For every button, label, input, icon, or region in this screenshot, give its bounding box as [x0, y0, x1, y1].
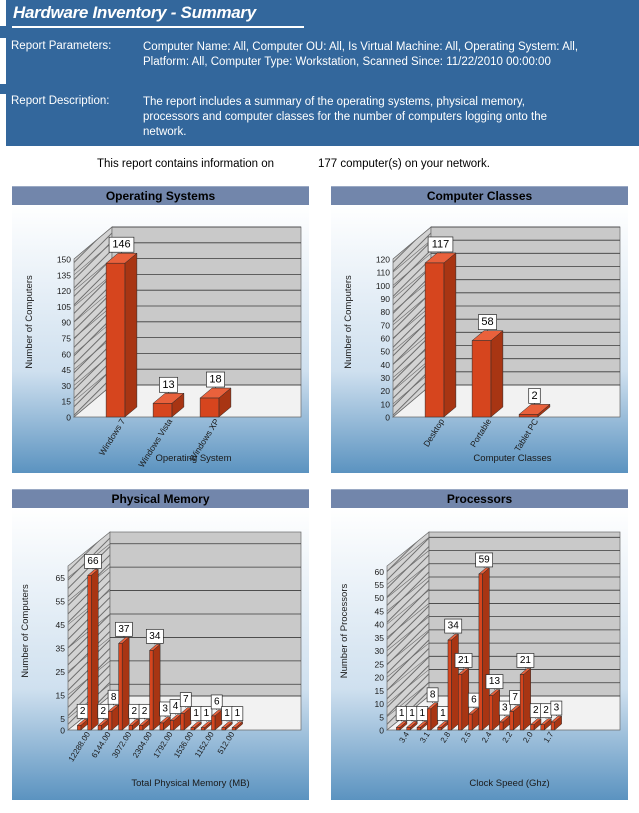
bar-value-label: 21 — [520, 655, 532, 666]
header-accent-bar — [0, 0, 6, 146]
bar-value-label: 117 — [432, 238, 450, 250]
plot-area-physical-memory: 05152535455565266283722343471161112288.0… — [56, 532, 301, 763]
y-tick-label: 40 — [375, 620, 385, 630]
y-tick-label: 15 — [375, 686, 385, 696]
y-tick-label: 20 — [381, 386, 391, 396]
bar-value-label: 4 — [173, 701, 179, 712]
bar-value-label: 58 — [481, 316, 493, 328]
summary-text-left: This report contains information on — [97, 158, 274, 170]
bar-value-label: 1 — [440, 708, 446, 719]
chart-canvas-computer-classes: 0102030405060708090100110120117582Deskto… — [331, 205, 628, 473]
y-tick-label: 35 — [56, 644, 66, 654]
title-underline — [12, 26, 304, 28]
y-tick-label: 60 — [62, 349, 72, 359]
bar-value-label: 8 — [430, 689, 436, 700]
y-tick-label: 45 — [62, 365, 72, 375]
y-axis-title: Number of Computers — [24, 275, 35, 369]
bar-value-label: 146 — [112, 239, 130, 251]
y-tick-label: 0 — [60, 726, 65, 736]
bar-value-label: 13 — [162, 379, 174, 391]
header-accent-notch-bottom — [0, 84, 6, 94]
y-tick-label: 110 — [376, 268, 390, 278]
bar-value-label: 1 — [399, 708, 405, 719]
bar-value-label: 66 — [87, 556, 99, 567]
y-tick-label: 30 — [375, 646, 385, 656]
chart-title-computer-classes: Computer Classes — [331, 186, 628, 205]
summary-text-right: 177 computer(s) on your network. — [318, 158, 490, 170]
y-tick-label: 25 — [56, 667, 66, 677]
chart-title-processors: Processors — [331, 489, 628, 508]
y-tick-label: 20 — [375, 673, 385, 683]
chart-panel-physical-memory: Physical Memory 051525354555652662837223… — [12, 489, 309, 800]
page-title: Hardware Inventory - Summary — [13, 3, 256, 23]
y-tick-label: 5 — [379, 712, 384, 722]
bar: 8 — [108, 690, 119, 730]
chart-panel-operating-systems: Operating Systems 0153045607590105120135… — [12, 186, 309, 473]
y-tick-label: 105 — [57, 302, 71, 312]
x-axis-title: Operating System — [155, 453, 231, 464]
bar-value-label: 7 — [512, 692, 518, 703]
bar-value-label: 13 — [489, 676, 501, 687]
y-tick-label: 50 — [375, 593, 385, 603]
y-tick-label: 30 — [62, 381, 72, 391]
y-axis-title: Number of Computers — [20, 584, 31, 678]
y-tick-label: 0 — [385, 413, 390, 423]
y-tick-label: 0 — [66, 413, 71, 423]
bar-value-label: 1 — [409, 708, 415, 719]
bar-value-label: 2 — [131, 706, 137, 717]
report-parameters-value: Computer Name: All, Computer OU: All, Is… — [143, 40, 579, 70]
y-tick-label: 55 — [56, 597, 66, 607]
bar-value-label: 1 — [193, 708, 199, 719]
chart-svg-computer-classes: 0102030405060708090100110120117582Deskto… — [331, 205, 628, 473]
y-tick-label: 55 — [375, 580, 385, 590]
y-tick-label: 10 — [375, 699, 385, 709]
chart-side-wall — [387, 532, 429, 730]
x-axis-title: Computer Classes — [473, 453, 551, 464]
bar-value-label: 2 — [543, 705, 549, 716]
plot-area-processors: 0510152025303540455055601118134216591337… — [375, 532, 620, 744]
report-header: Hardware Inventory - Summary Report Para… — [0, 0, 639, 146]
y-tick-label: 80 — [381, 307, 391, 317]
chart-title-operating-systems: Operating Systems — [12, 186, 309, 205]
y-tick-label: 40 — [381, 360, 391, 370]
bar-value-label: 34 — [149, 631, 161, 642]
report-description-label: Report Description: — [11, 95, 109, 107]
bar-value-label: 59 — [479, 554, 491, 565]
y-tick-label: 5 — [60, 714, 65, 724]
header-accent-notch-top — [0, 26, 6, 38]
y-tick-label: 0 — [379, 726, 384, 736]
y-tick-label: 90 — [62, 318, 72, 328]
y-tick-label: 90 — [381, 294, 391, 304]
bar-value-label: 2 — [80, 706, 86, 717]
y-tick-label: 45 — [375, 606, 385, 616]
bar-value-label: 18 — [209, 374, 221, 386]
bar-value-label: 2 — [531, 390, 537, 402]
report-description-value: The report includes a summary of the ope… — [143, 95, 579, 140]
y-tick-label: 10 — [381, 399, 391, 409]
chart-canvas-operating-systems: 01530456075901051201351501461318Windows … — [12, 205, 309, 473]
x-axis-title: Clock Speed (Ghz) — [469, 778, 549, 789]
y-tick-label: 150 — [57, 255, 71, 265]
bar-value-label: 1 — [204, 708, 210, 719]
y-tick-label: 60 — [375, 567, 385, 577]
bar-value-label: 3 — [554, 703, 560, 714]
y-tick-label: 50 — [381, 347, 391, 357]
x-axis-title: Total Physical Memory (MB) — [131, 778, 249, 789]
bar-value-label: 8 — [111, 692, 117, 703]
bar-value-label: 7 — [183, 694, 189, 705]
bar-value-label: 37 — [118, 624, 130, 635]
bar-value-label: 2 — [142, 706, 148, 717]
y-tick-label: 70 — [381, 320, 391, 330]
y-tick-label: 120 — [57, 286, 71, 296]
chart-canvas-processors: 0510152025303540455055601118134216591337… — [331, 508, 628, 800]
bar: 117 — [425, 237, 456, 417]
y-tick-label: 30 — [381, 373, 391, 383]
bar-value-label: 3 — [502, 703, 508, 714]
y-tick-label: 65 — [56, 573, 66, 583]
chart-canvas-physical-memory: 05152535455565266283722343471161112288.0… — [12, 508, 309, 800]
y-tick-label: 35 — [375, 633, 385, 643]
bar-value-label: 2 — [101, 706, 107, 717]
chart-svg-processors: 0510152025303540455055601118134216591337… — [331, 508, 628, 800]
report-page: Hardware Inventory - Summary Report Para… — [0, 0, 639, 813]
y-tick-label: 120 — [376, 255, 390, 265]
y-tick-label: 15 — [56, 690, 66, 700]
bar-value-label: 6 — [214, 696, 220, 707]
y-axis-title: Number of Computers — [343, 275, 354, 369]
bar-value-label: 6 — [471, 695, 477, 706]
bar: 146 — [106, 237, 137, 417]
y-tick-label: 60 — [381, 334, 391, 344]
bar-value-label: 1 — [420, 708, 426, 719]
y-axis-title: Number of Processors — [339, 584, 350, 679]
bar-value-label: 1 — [235, 708, 241, 719]
bar: 8 — [427, 688, 438, 730]
chart-title-physical-memory: Physical Memory — [12, 489, 309, 508]
y-tick-label: 45 — [56, 620, 66, 630]
y-tick-label: 25 — [375, 659, 385, 669]
y-tick-label: 15 — [62, 397, 72, 407]
bar-value-label: 2 — [533, 705, 539, 716]
bar-value-label: 34 — [448, 621, 460, 632]
bar: 7 — [510, 690, 521, 730]
report-parameters-label: Report Parameters: — [11, 40, 111, 52]
chart-panel-processors: Processors 05101520253035404550556011181… — [331, 489, 628, 800]
bar-value-label: 21 — [458, 655, 470, 666]
chart-svg-physical-memory: 05152535455565266283722343471161112288.0… — [12, 508, 309, 800]
y-tick-label: 135 — [57, 270, 71, 280]
bar-value-label: 1 — [224, 708, 230, 719]
y-tick-label: 100 — [376, 281, 390, 291]
chart-panel-computer-classes: Computer Classes 01020304050607080901001… — [331, 186, 628, 473]
bar-value-label: 3 — [162, 703, 168, 714]
y-tick-label: 75 — [62, 334, 72, 344]
chart-svg-operating-systems: 01530456075901051201351501461318Windows … — [12, 205, 309, 473]
